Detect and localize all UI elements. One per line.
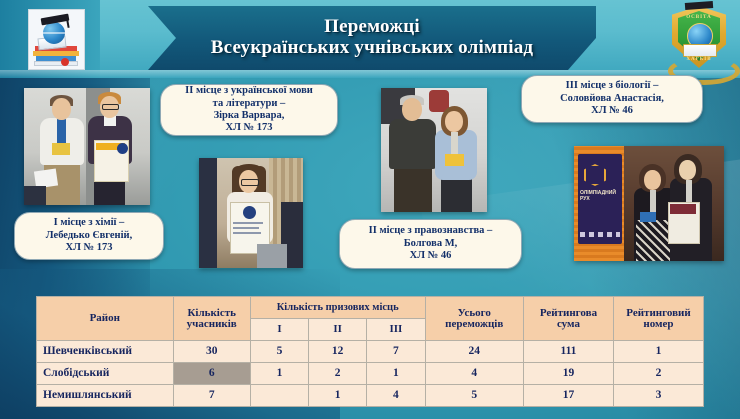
cell-rating-number: 3 <box>613 385 703 407</box>
header-participants-line2: учасників <box>174 319 250 330</box>
header-rating-sum-line1: Рейтингова <box>524 308 613 319</box>
cell-district: Шевченківський <box>37 341 174 363</box>
caption-line: ІІІ місце з біології – <box>560 80 664 92</box>
page-title-line1: Переможці <box>211 17 534 38</box>
header-rating-number: Рейтинговий номер <box>613 297 703 341</box>
caption-line: ІІ місце з правознавства – <box>369 225 493 237</box>
cell-rating-number: 1 <box>613 341 703 363</box>
cell-district: Немишлянський <box>37 385 174 407</box>
photo-law-winner <box>381 88 487 212</box>
cell-participants: 7 <box>173 385 250 407</box>
olympiad-results-table: Район Кількість учасників Кількість приз… <box>36 296 704 407</box>
cell-place-3: 1 <box>367 363 425 385</box>
photo-ukrainian-winner <box>199 158 303 268</box>
photo-chemistry-winners <box>24 88 150 205</box>
header-total-line1: Усього <box>426 308 523 319</box>
cell-place-1: 5 <box>250 341 308 363</box>
header-place-3: ІІІ <box>367 319 425 341</box>
table-row: Слобідський61214192 <box>37 363 704 385</box>
caption-line: ХЛ № 173 <box>46 242 132 254</box>
cell-district: Слобідський <box>37 363 174 385</box>
globe-graduation-cap-books-logo <box>28 9 85 70</box>
education-department-emblem-icon: ОСВІТА ХАРКІВ <box>666 2 732 76</box>
cell-place-2: 2 <box>309 363 367 385</box>
table-row: Немишлянський7145173 <box>37 385 704 407</box>
caption-line: Лебедько Євгеній, <box>46 230 132 242</box>
caption-ukrainian-language: ІІ місце з української мови та літератур… <box>160 84 338 136</box>
caption-biology: ІІІ місце з біології – Соловйова Анастас… <box>521 75 703 123</box>
header-participants-line1: Кількість <box>174 308 250 319</box>
header-place-2: ІІ <box>309 319 367 341</box>
cell-rating-sum: 111 <box>523 341 613 363</box>
table-head: Район Кількість учасників Кількість приз… <box>37 297 704 341</box>
photo-banner-text: ОЛІМПІАДНИЙ РУХ <box>580 190 620 203</box>
caption-line: ІІ місце з української мови <box>185 85 313 97</box>
caption-line: та літератури – <box>185 98 313 110</box>
header-rating-sum-line2: сума <box>524 319 613 330</box>
header-total-line2: переможців <box>426 319 523 330</box>
cell-total-winners: 5 <box>425 385 523 407</box>
cell-place-1: 1 <box>250 363 308 385</box>
photo-biology-winner: ОЛІМПІАДНИЙ РУХ <box>574 146 724 261</box>
caption-line: ХЛ № 173 <box>185 122 313 134</box>
table-header-row-1: Район Кількість учасників Кількість приз… <box>37 297 704 319</box>
cell-participants: 6 <box>173 363 250 385</box>
header-participants: Кількість учасників <box>173 297 250 341</box>
cell-rating-sum: 17 <box>523 385 613 407</box>
cell-place-2: 1 <box>309 385 367 407</box>
caption-line: Зірка Варвара, <box>185 110 313 122</box>
caption-line: ХЛ № 46 <box>560 105 664 117</box>
emblem-top-text: ОСВІТА <box>666 15 732 20</box>
header-district: Район <box>37 297 174 341</box>
caption-law: ІІ місце з правознавства – Болгова М, ХЛ… <box>339 219 522 269</box>
table-body: Шевченківський305127241111Слобідський612… <box>37 341 704 407</box>
cell-place-2: 12 <box>309 341 367 363</box>
header-prize-places: Кількість призових місць <box>250 297 425 319</box>
header-total-winners: Усього переможців <box>425 297 523 341</box>
page-title-line2: Всеукраїнських учнівських олімпіад <box>211 38 534 59</box>
header-rating-number-line1: Рейтинговий <box>614 308 703 319</box>
header-rating-sum: Рейтингова сума <box>523 297 613 341</box>
caption-line: Соловйова Анастасія, <box>560 93 664 105</box>
header-rating-number-line2: номер <box>614 319 703 330</box>
cell-place-1 <box>250 385 308 407</box>
slide-title-ribbon: Переможці Всеукраїнських учнівських олім… <box>148 6 596 70</box>
presentation-slide: Переможці Всеукраїнських учнівських олім… <box>0 0 740 419</box>
caption-line: Болгова М, <box>369 238 493 250</box>
cell-participants: 30 <box>173 341 250 363</box>
cell-rating-number: 2 <box>613 363 703 385</box>
table-row: Шевченківський305127241111 <box>37 341 704 363</box>
cell-place-3: 7 <box>367 341 425 363</box>
results-table-wrapper: Район Кількість учасників Кількість приз… <box>36 296 704 407</box>
header-place-1: І <box>250 319 308 341</box>
cell-place-3: 4 <box>367 385 425 407</box>
caption-chemistry: І місце з хімії – Лебедько Євгеній, ХЛ №… <box>14 212 164 260</box>
caption-line: ХЛ № 46 <box>369 250 493 262</box>
caption-line: І місце з хімії – <box>46 217 132 229</box>
cell-total-winners: 24 <box>425 341 523 363</box>
cell-total-winners: 4 <box>425 363 523 385</box>
cell-rating-sum: 19 <box>523 363 613 385</box>
